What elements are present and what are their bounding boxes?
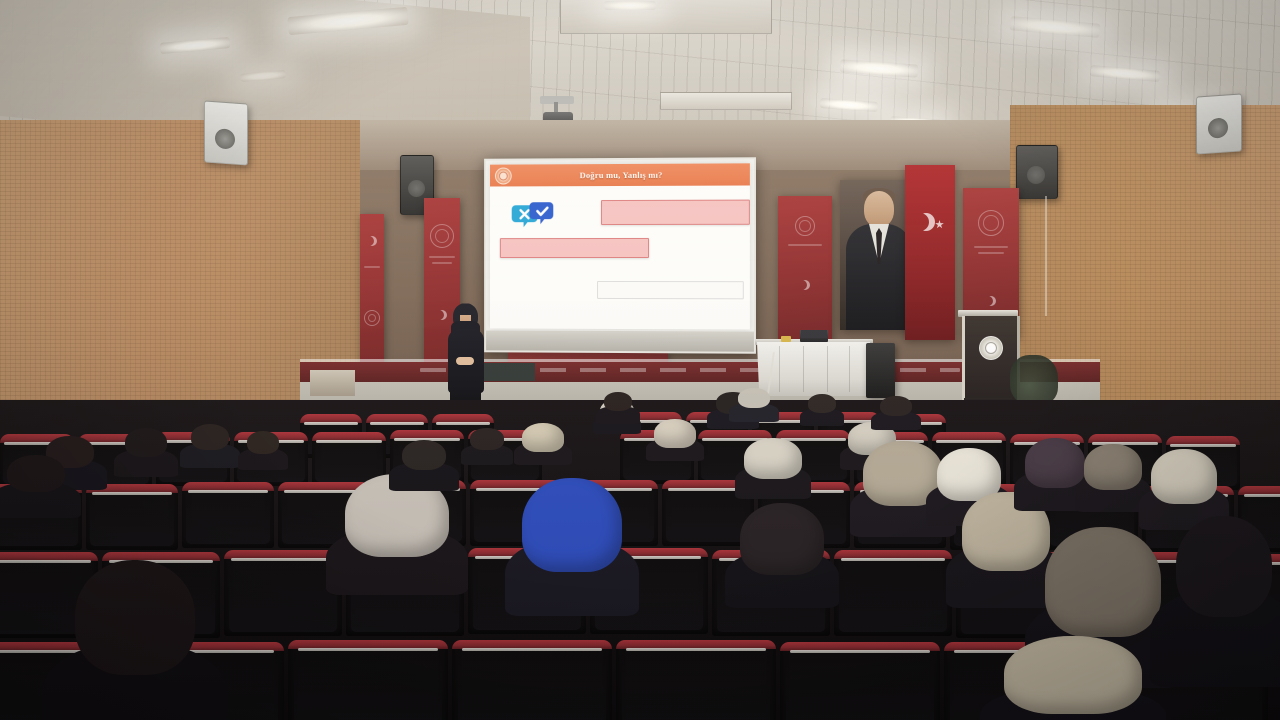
person-head	[247, 431, 279, 454]
person-headscarf	[1084, 444, 1141, 490]
audience-person	[520, 424, 566, 458]
person-headscarf	[1004, 636, 1142, 713]
person-head	[191, 424, 229, 450]
person-headscarf	[1025, 438, 1086, 488]
person-headscarf	[654, 419, 696, 448]
person-headscarf	[744, 438, 801, 479]
audience-person	[600, 392, 636, 418]
audience-person	[466, 428, 508, 458]
person-head	[604, 392, 633, 411]
person-headscarf	[740, 503, 825, 575]
audience-person	[396, 440, 452, 482]
person-head	[1176, 516, 1272, 617]
audience-person	[1148, 452, 1220, 516]
person-headscarf	[522, 478, 621, 573]
person-headscarf	[1045, 527, 1161, 637]
person-head	[880, 396, 912, 416]
person-head	[7, 455, 65, 492]
person-head	[738, 388, 770, 408]
audience-person	[734, 388, 774, 416]
audience-person	[243, 431, 283, 463]
person-head	[402, 440, 447, 470]
audience-person	[186, 424, 234, 460]
audience-person	[120, 428, 172, 468]
audience-attendees	[0, 0, 1280, 720]
audience-person	[1082, 446, 1144, 500]
audience-person	[60, 560, 210, 720]
audience-person	[804, 394, 840, 420]
audience-person	[736, 506, 828, 590]
audience-person	[340, 478, 454, 574]
audience-person	[998, 640, 1148, 720]
person-headscarf	[522, 423, 564, 452]
audience-person	[0, 455, 72, 507]
person-head	[808, 394, 837, 413]
person-headscarf	[1151, 449, 1217, 504]
audience-person	[876, 396, 916, 424]
person-head	[75, 560, 195, 675]
audience-person	[742, 440, 804, 488]
conference-hall-photo: Doğru mu, Yanlış mı?	[0, 0, 1280, 720]
person-head	[470, 428, 504, 450]
audience-person	[518, 482, 626, 592]
audience-person	[652, 420, 698, 454]
person-head	[125, 428, 167, 457]
audience-person	[1164, 516, 1280, 656]
